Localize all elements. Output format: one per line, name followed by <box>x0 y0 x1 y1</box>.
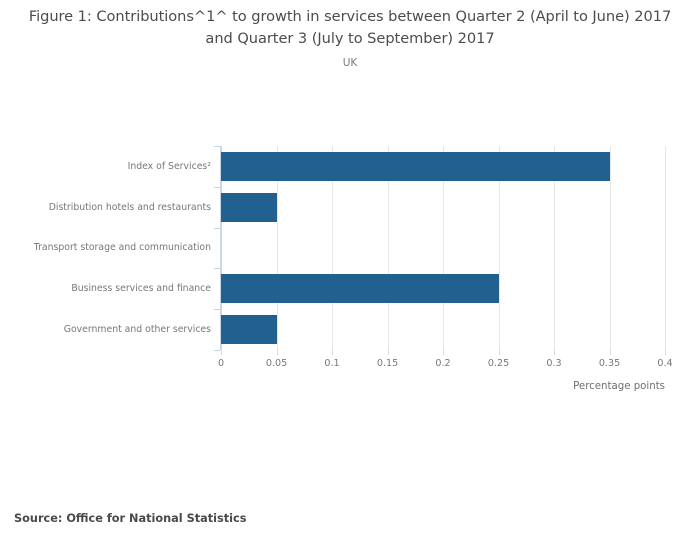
bar[interactable] <box>221 152 610 181</box>
y-axis-label-text: Government and other services <box>64 324 221 335</box>
x-axis-tick-label: 0.1 <box>324 358 339 369</box>
bar-row <box>221 187 665 228</box>
y-axis-tick <box>214 187 220 188</box>
y-axis-label: Index of Services² <box>0 146 221 187</box>
y-axis-label-text: Distribution hotels and restaurants <box>49 202 221 213</box>
y-axis-label-text: Index of Services² <box>128 161 221 172</box>
x-axis-tick-label: 0.35 <box>599 358 620 369</box>
y-axis-labels: Index of Services²Distribution hotels an… <box>0 146 221 350</box>
y-axis-label: Business services and finance <box>0 268 221 309</box>
y-axis-tick <box>214 350 220 351</box>
x-axis-title: Percentage points <box>0 381 665 392</box>
x-axis-tick <box>665 350 666 355</box>
x-axis-tick-label: 0.3 <box>546 358 561 369</box>
bar-row <box>221 228 665 269</box>
x-axis-tick <box>554 350 555 355</box>
x-axis-tick-label: 0.2 <box>435 358 450 369</box>
bar[interactable] <box>221 274 499 303</box>
x-axis-tick <box>277 350 278 355</box>
bar-row <box>221 309 665 350</box>
source-note: Source: Office for National Statistics <box>14 512 246 525</box>
y-axis-tick <box>214 146 220 147</box>
gridline-x-0.4 <box>665 146 666 350</box>
y-axis-label: Distribution hotels and restaurants <box>0 187 221 228</box>
x-axis-tick <box>388 350 389 355</box>
y-axis-label: Transport storage and communication <box>0 228 221 269</box>
y-axis-label: Government and other services <box>0 309 221 350</box>
y-axis-tick <box>214 268 220 269</box>
y-axis-label-text: Business services and finance <box>71 283 221 294</box>
x-axis-tick-label: 0.25 <box>488 358 509 369</box>
x-axis-tick-label: 0.4 <box>657 358 672 369</box>
y-axis-label-text: Transport storage and communication <box>34 242 221 253</box>
bar-row <box>221 268 665 309</box>
x-axis-tick-label: 0 <box>218 358 224 369</box>
x-axis-tick-label: 0.05 <box>266 358 287 369</box>
x-axis-tick <box>499 350 500 355</box>
y-axis-tick <box>214 228 220 229</box>
x-axis-tick <box>443 350 444 355</box>
plot-area <box>221 146 665 350</box>
bar-row <box>221 146 665 187</box>
x-axis-tick <box>610 350 611 355</box>
x-axis-tick-label: 0.15 <box>377 358 398 369</box>
x-axis-tick <box>332 350 333 355</box>
bar[interactable] <box>221 315 277 344</box>
x-axis-tick <box>221 350 222 355</box>
y-axis-tick <box>214 309 220 310</box>
bar-chart: Index of Services²Distribution hotels an… <box>0 0 700 420</box>
bar[interactable] <box>221 193 277 222</box>
